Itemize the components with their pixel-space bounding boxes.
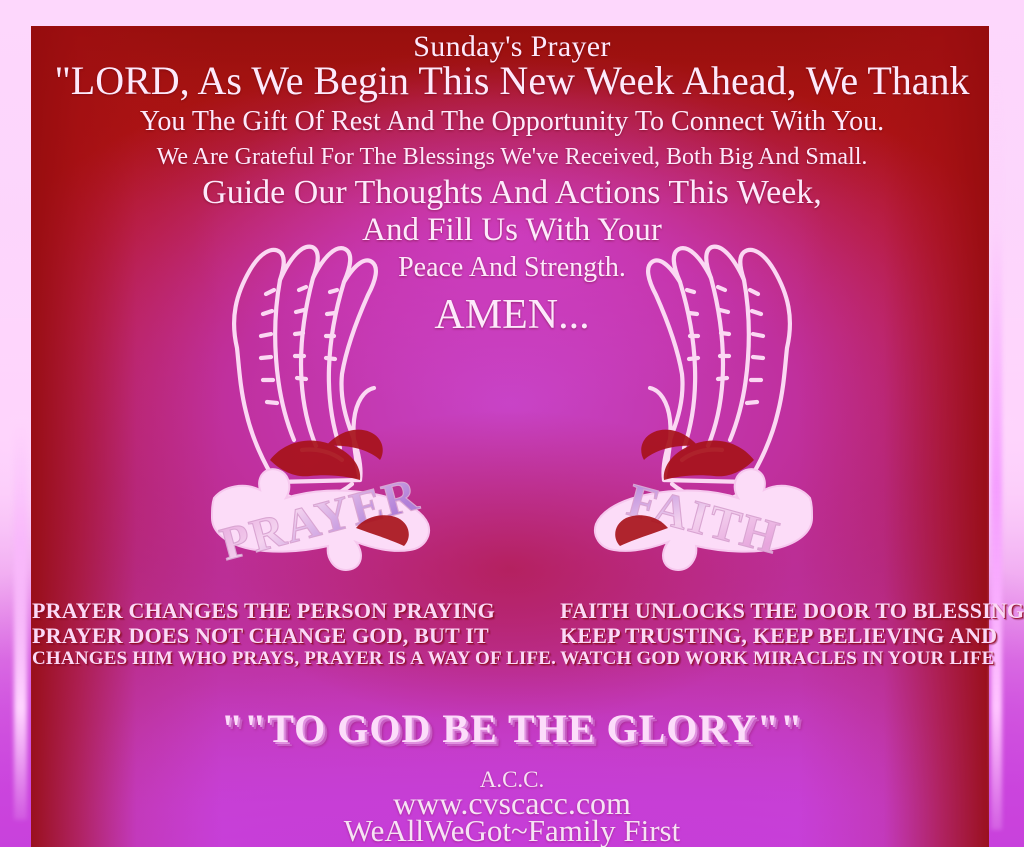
exhortation-block: PRAYER CHANGES THE PERSON PRAYING PRAYER… (24, 598, 1000, 670)
exhortation-left-line-1: PRAYER CHANGES THE PERSON PRAYING (32, 598, 556, 623)
exhortation-right-line-2: KEEP TRUSTING, KEEP BELIEVING AND (560, 623, 1024, 648)
prayer-line-6: Peace And Strength. (0, 254, 1024, 282)
exhortation-right-line-3: WATCH GOD WORK MIRACLES IN YOUR LIFE (560, 648, 1024, 670)
prayer-poster: PRAYER (0, 0, 1024, 847)
prayer-line-3: We Are Grateful For The Blessings We've … (0, 145, 1024, 169)
exhortation-left-line-2: PRAYER DOES NOT CHANGE GOD, BUT IT (32, 623, 556, 648)
footer-tagline: WeAllWeGot~Family First (0, 815, 1024, 846)
prayer-line-4: Guide Our Thoughts And Actions This Week… (0, 176, 1024, 210)
prayer-line-5: And Fill Us With Your (0, 214, 1024, 247)
exhortation-column-faith: FAITH UNLOCKS THE DOOR TO BLESSINGS. KEE… (560, 598, 1024, 670)
prayer-line-amen: AMEN... (0, 294, 1024, 336)
exhortation-left-line-3: CHANGES HIM WHO PRAYS, PRAYER IS A WAY O… (32, 648, 556, 670)
prayer-line-1: "LORD, As We Begin This New Week Ahead, … (0, 61, 1024, 101)
glory-headline: ""TO GOD BE THE GLORY"" (0, 705, 1024, 752)
exhortation-right-line-1: FAITH UNLOCKS THE DOOR TO BLESSINGS. (560, 598, 1024, 623)
exhortation-column-prayer: PRAYER CHANGES THE PERSON PRAYING PRAYER… (24, 598, 556, 670)
prayer-line-2: You The Gift Of Rest And The Opportunity… (0, 108, 1024, 136)
